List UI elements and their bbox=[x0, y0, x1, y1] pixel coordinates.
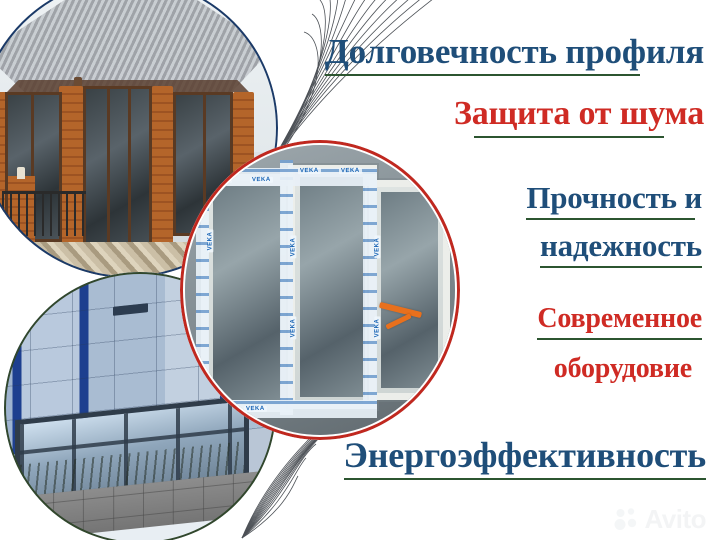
headline-energy-efficiency: Энергоэффективность bbox=[344, 437, 706, 480]
veka-brand-tag: VEKA bbox=[207, 229, 213, 252]
veka-brand-tag: VEKA bbox=[244, 406, 267, 412]
headline-durability: Долговечность профиля bbox=[325, 34, 704, 76]
headline-reliability: надежность bbox=[540, 230, 702, 268]
headline-reliability-text: надежность bbox=[540, 228, 702, 263]
avito-watermark-text: Avito bbox=[644, 506, 706, 532]
headline-modern-rule bbox=[537, 338, 702, 340]
veka-brand-tag: VEKA bbox=[298, 168, 321, 174]
veka-brand-tag: VEKA bbox=[291, 316, 297, 339]
advertisement-poster: VEKA VEKA VEKA VEKA VEKA VEKA VEKA VEKA … bbox=[0, 0, 720, 540]
veka-brand-tag: VEKA bbox=[250, 177, 273, 183]
headline-noise-protection-text: Защита от шума bbox=[454, 95, 704, 132]
veka-brand-tag: VEKA bbox=[291, 235, 297, 258]
headline-durability-rule bbox=[325, 74, 640, 76]
headline-durability-text: Долговечность профиля bbox=[325, 32, 704, 71]
headline-equipment: оборудовие bbox=[554, 355, 692, 383]
veka-brand-tag: VEKA bbox=[374, 316, 380, 339]
veka-brand-tag: VEKA bbox=[339, 168, 362, 174]
headline-equipment-text: оборудовие bbox=[554, 353, 692, 384]
headline-noise-protection: Защита от шума bbox=[454, 97, 704, 138]
veka-brand-tag: VEKA bbox=[374, 235, 380, 258]
photo-veka-windows-image: VEKA VEKA VEKA VEKA VEKA VEKA VEKA VEKA … bbox=[180, 140, 460, 440]
avito-dots-icon bbox=[614, 506, 640, 532]
veka-brand-tag: VEKA bbox=[209, 177, 232, 183]
headline-modern: Современное bbox=[537, 305, 702, 340]
headline-strength-rule bbox=[526, 218, 695, 220]
headline-strength: Прочность и bbox=[526, 182, 702, 220]
headline-reliability-rule bbox=[540, 266, 702, 268]
headline-energy-efficiency-text: Энергоэффективность bbox=[344, 435, 706, 475]
headline-energy-efficiency-rule bbox=[344, 478, 706, 480]
headline-strength-text: Прочность и bbox=[526, 180, 702, 215]
headline-modern-text: Современное bbox=[537, 303, 702, 334]
photo-veka-windows: VEKA VEKA VEKA VEKA VEKA VEKA VEKA VEKA … bbox=[180, 140, 460, 440]
avito-watermark: Avito bbox=[614, 506, 706, 532]
headline-noise-protection-rule bbox=[474, 136, 664, 138]
